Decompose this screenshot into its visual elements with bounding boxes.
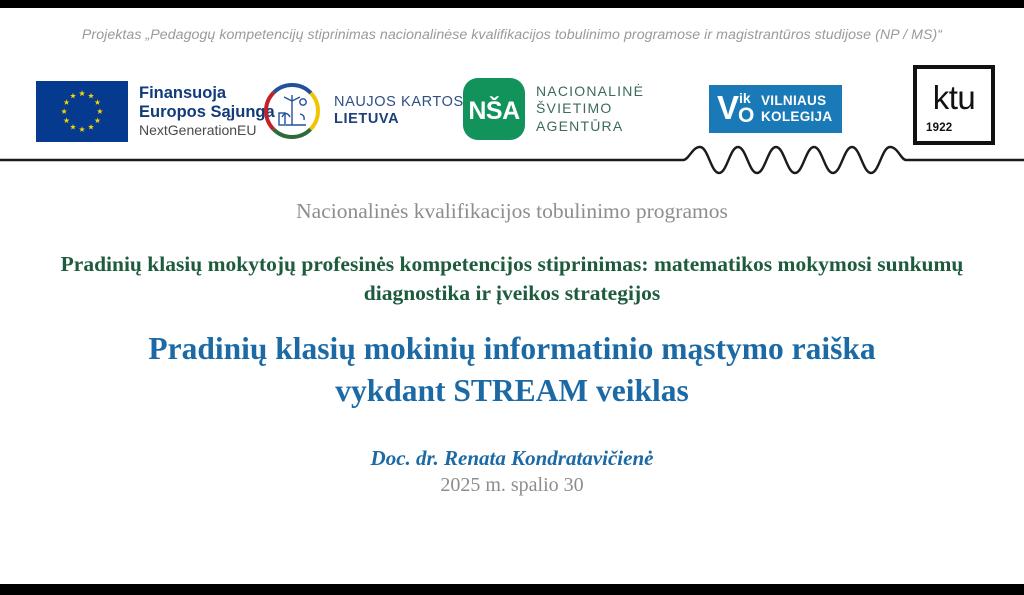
nsa-logo-text: NACIONALINĖ ŠVIETIMO AGENTŪRA	[536, 83, 644, 136]
ktu-year: 1922	[926, 122, 952, 134]
viko-mark-ik: ik	[739, 91, 751, 105]
nsa-logo-line3: AGENTŪRA	[536, 118, 644, 136]
ktu-logo: ktu 1922	[913, 65, 995, 145]
main-title-line2: vykdant STREAM veiklas	[62, 370, 962, 412]
nkl-logo-line1: NAUJOS KARTOS	[334, 94, 464, 111]
eu-logo-line3: NextGenerationEU	[139, 123, 275, 139]
naujos-kartos-lietuva-logo: NAUJOS KARTOS LIETUVA	[262, 81, 464, 141]
viko-logo-line2: KOLEGIJA	[761, 109, 832, 125]
program-title-line2: diagnostika ir įveikos strategijos	[364, 281, 660, 305]
main-title: Pradinių klasių mokinių informatinio mąs…	[62, 328, 962, 412]
project-funding-line: Projektas „Pedagogų kompetencijų stiprin…	[0, 27, 1024, 43]
eu-logo-line1: Finansuoja	[139, 84, 275, 102]
nkl-logo-text: NAUJOS KARTOS LIETUVA	[334, 94, 464, 129]
viko-monogram-icon: V ik O	[717, 89, 761, 129]
viko-mark-o: O	[738, 105, 754, 126]
eu-flag-logo: Finansuoja Europos Sąjunga NextGeneratio…	[36, 81, 275, 142]
program-title: Pradinių klasių mokytojų profesinės komp…	[52, 250, 972, 308]
presentation-slide: Projektas „Pedagogų kompetencijų stiprin…	[0, 0, 1024, 595]
viko-logo-line1: VILNIAUS	[761, 93, 832, 109]
ktu-wordmark: ktu	[917, 81, 991, 115]
viko-mark-v: V	[717, 91, 739, 124]
eu-flag-icon	[36, 81, 128, 142]
viko-logo-text: VILNIAUS KOLEGIJA	[761, 93, 832, 125]
vilniaus-kolegija-logo: V ik O VILNIAUS KOLEGIJA	[709, 85, 842, 133]
nsa-logo-line1: NACIONALINĖ	[536, 83, 644, 101]
presentation-date: 2025 m. spalio 30	[0, 474, 1024, 497]
eu-logo-text: Finansuoja Europos Sąjunga NextGeneratio…	[139, 84, 275, 139]
nsa-logo-line2: ŠVIETIMO	[536, 100, 644, 118]
nsa-logo: NŠA NACIONALINĖ ŠVIETIMO AGENTŪRA	[463, 78, 644, 140]
ktu-box-icon: ktu 1922	[913, 65, 995, 145]
logo-row: Finansuoja Europos Sąjunga NextGeneratio…	[0, 63, 1024, 149]
eu-logo-line2: Europos Sąjunga	[139, 103, 275, 121]
main-title-line1: Pradinių klasių mokinių informatinio mąs…	[62, 328, 962, 370]
nkl-emblem-icon	[262, 81, 322, 141]
nkl-logo-line2: LIETUVA	[334, 111, 464, 128]
eu-stars-icon	[36, 81, 128, 142]
top-letterbox-bar	[0, 0, 1024, 8]
program-label: Nacionalinės kvalifikacijos tobulinimo p…	[0, 199, 1024, 224]
nsa-mark-label: NŠA	[468, 97, 519, 126]
bottom-letterbox-bar	[0, 584, 1024, 595]
wavy-divider	[0, 144, 1024, 178]
nsa-mark-icon: NŠA	[463, 78, 525, 140]
author-name: Doc. dr. Renata Kondratavičienė	[0, 446, 1024, 471]
program-title-line1: Pradinių klasių mokytojų profesinės komp…	[61, 252, 964, 276]
viko-box-icon: V ik O VILNIAUS KOLEGIJA	[709, 85, 842, 133]
